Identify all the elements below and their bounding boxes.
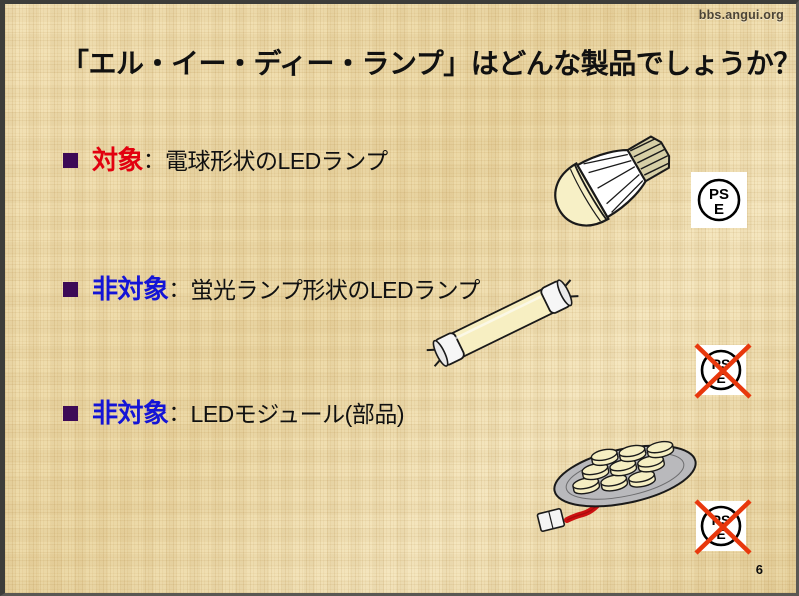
bullet-item-1: 対象 ： 電球形状のLEDランプ: [63, 140, 388, 177]
pse-mark-1: PS E: [691, 172, 747, 228]
bullet-1-separator: ：: [143, 143, 165, 175]
square-bullet-icon: [63, 282, 78, 297]
pse-bottom-label: E: [714, 201, 724, 218]
bullet-1-text: 電球形状のLEDランプ: [165, 142, 388, 176]
bullet-3-key: 非対象: [92, 393, 169, 430]
bullet-item-3: 非対象 ： LEDモジュール(部品): [63, 393, 404, 430]
led-module-illustration: [505, 428, 700, 548]
bullet-1-key: 対象: [92, 140, 143, 177]
pse-mark-crossed-1: PS E: [693, 342, 755, 404]
pse-mark-crossed-2: PS E: [693, 498, 755, 560]
bullet-2-key: 非対象: [92, 269, 169, 306]
page-number: 6: [756, 562, 763, 577]
bullet-2-separator: ：: [169, 272, 191, 304]
slide-canvas: bbs.angui.org 「エル・イー・ディー・ランプ」はどんな製品でしょうか…: [0, 0, 799, 596]
led-tube-illustration: [423, 262, 583, 387]
watermark-text: bbs.angui.org: [699, 8, 784, 22]
bullet-3-text: LEDモジュール(部品): [191, 395, 404, 429]
bullet-item-2: 非対象 ： 蛍光ランプ形状のLEDランプ: [63, 269, 480, 306]
page-title: 「エル・イー・ディー・ランプ」はどんな製品でしょうか？: [61, 42, 799, 82]
led-bulb-illustration: [545, 124, 695, 239]
square-bullet-icon: [63, 153, 78, 168]
bullet-3-separator: ：: [169, 396, 191, 428]
square-bullet-icon: [63, 406, 78, 421]
